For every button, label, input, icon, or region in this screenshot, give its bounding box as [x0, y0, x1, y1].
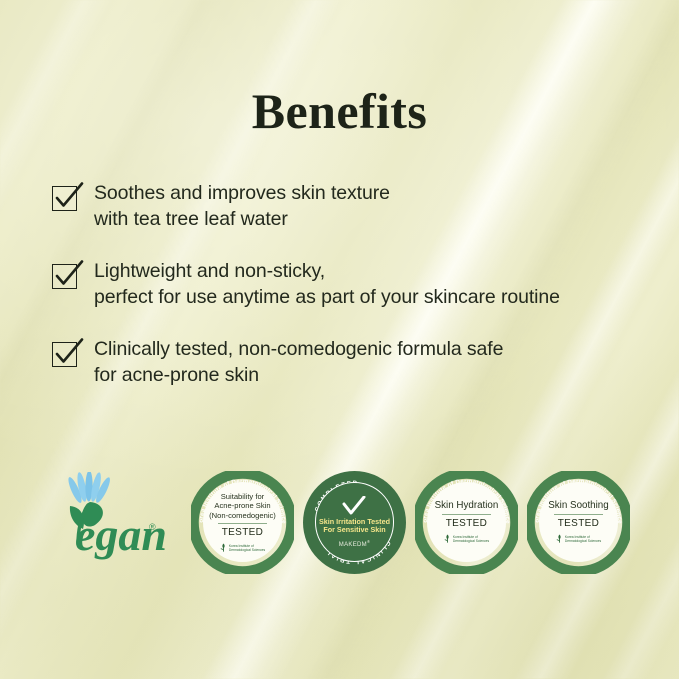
checkmark-icon: [52, 256, 86, 290]
benefits-infographic: Benefits Soothes and improves skin textu…: [0, 0, 679, 679]
badge-title-2: Skin Irritation Tested For Sensitive Ski…: [316, 518, 393, 535]
badge-footer-text-1: Korea Institute of Dermatological Scienc…: [229, 544, 265, 552]
vegan-logo-graphic: egan ®: [48, 472, 168, 572]
checkbox-2: [52, 264, 77, 289]
badge-brand-text-2: MAKEDM: [339, 542, 367, 548]
benefit-item-3: Clinically tested, non-comedogenic formu…: [52, 336, 652, 388]
benefit-text-1: Soothes and improves skin texture with t…: [94, 180, 390, 232]
institute-emblem-icon: [444, 534, 451, 543]
badge-divider-3: [442, 514, 491, 515]
badge-title-3: Skin Hydration: [430, 500, 504, 511]
vegan-wordmark: egan: [75, 509, 167, 560]
benefit-text-3: Clinically tested, non-comedogenic formu…: [94, 336, 503, 388]
benefit-text-2: Lightweight and non-sticky, perfect for …: [94, 258, 560, 310]
registered-trademark-icon: ®: [367, 539, 370, 544]
badge-skin-soothing: Korea Institute of Dermatological Scienc…: [527, 471, 630, 574]
badge-footer-text-3: Korea Institute of Dermatological Scienc…: [453, 535, 489, 543]
badge-footer-4: Korea Institute of Dermatological Scienc…: [556, 534, 601, 543]
vegan-certified-logo: egan ®: [48, 472, 168, 572]
page-title: Benefits: [0, 82, 679, 140]
benefit-item-2: Lightweight and non-sticky, perfect for …: [52, 258, 652, 310]
checkmark-icon: [52, 334, 86, 368]
badge-status-4: TESTED: [558, 518, 600, 529]
badge-inner-2: Skin Irritation Tested For Sensitive Ski…: [315, 482, 394, 561]
badge-status-1: TESTED: [222, 527, 264, 538]
badge-divider-4: [554, 514, 603, 515]
badge-inner-4: Skin Soothing TESTED Korea Institute of …: [539, 482, 618, 561]
badge-title-4: Skin Soothing: [543, 500, 613, 511]
checkmark-icon: [52, 178, 86, 212]
badge-title-1: Suitability for Acne-prone Skin (Non-com…: [204, 492, 281, 520]
badge-skin-irritation-sensitive: COMPLETED CLINICAL TRIAL Skin Irritation…: [303, 471, 406, 574]
badge-skin-hydration: Korea Institute of Dermatological Scienc…: [415, 471, 518, 574]
badge-footer-text-4: Korea Institute of Dermatological Scienc…: [565, 535, 601, 543]
badge-inner-3: Skin Hydration TESTED Korea Institute of…: [427, 482, 506, 561]
checkbox-1: [52, 186, 77, 211]
institute-emblem-icon: [556, 534, 563, 543]
flower-icon: [66, 472, 112, 504]
badge-footer-3: Korea Institute of Dermatological Scienc…: [444, 534, 489, 543]
institute-emblem-icon: [220, 543, 227, 552]
badge-status-3: TESTED: [446, 518, 488, 529]
checkmark-icon: [341, 496, 367, 516]
certification-row: egan ® Korea Institute of Dermatological…: [0, 466, 679, 578]
registered-trademark-icon: ®: [149, 522, 156, 532]
benefit-item-1: Soothes and improves skin texture with t…: [52, 180, 652, 232]
badge-brand-2: MAKEDM®: [339, 539, 370, 548]
badge-footer-1: Korea Institute of Dermatological Scienc…: [220, 543, 265, 552]
checkbox-3: [52, 342, 77, 367]
benefits-list: Soothes and improves skin texture with t…: [52, 180, 652, 414]
badge-acne-prone-suitability: Korea Institute of Dermatological Scienc…: [191, 471, 294, 574]
badge-inner-1: Suitability for Acne-prone Skin (Non-com…: [203, 482, 282, 561]
badge-divider-1: [218, 523, 267, 524]
